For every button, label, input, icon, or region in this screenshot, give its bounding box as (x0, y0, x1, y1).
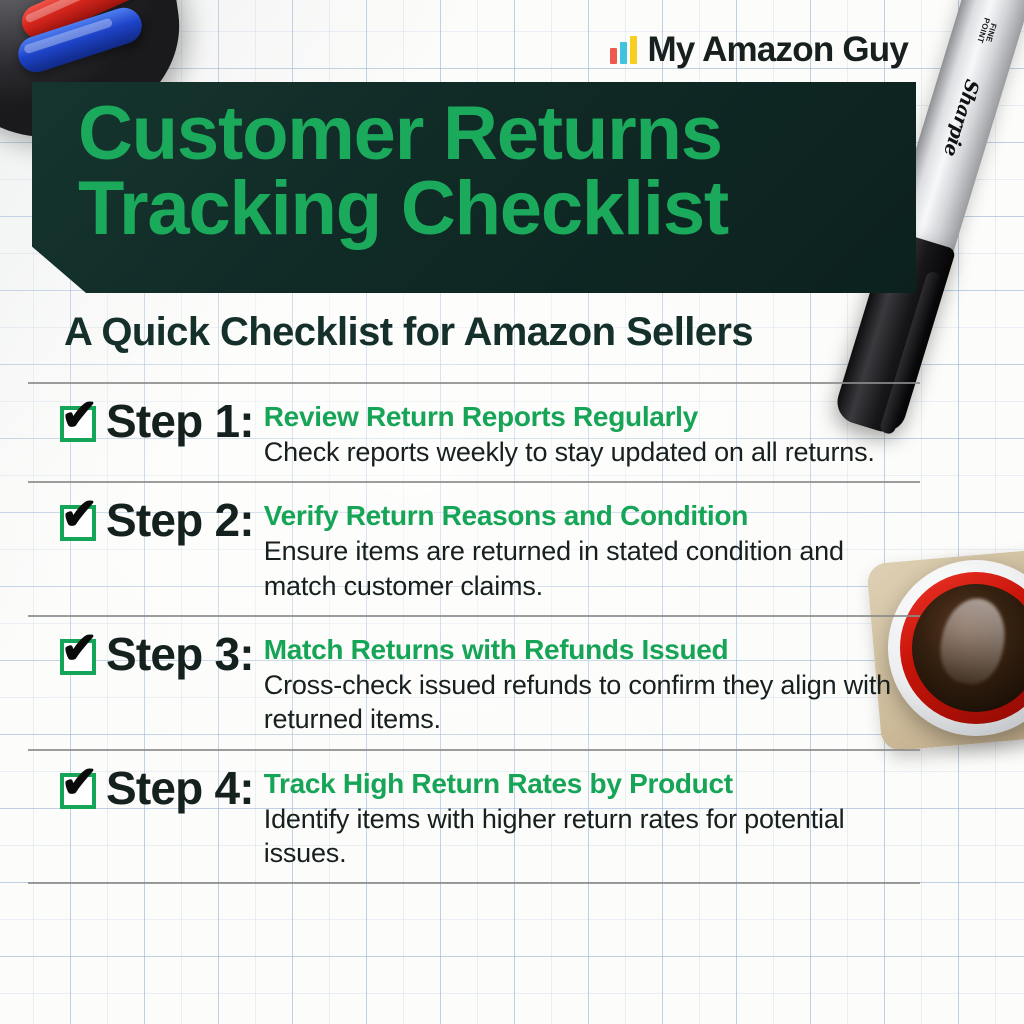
checklist-item-3[interactable]: ✔ Step 3: Match Returns with Refunds Iss… (28, 617, 920, 749)
step-label-1: Step 1: (106, 398, 264, 446)
infographic-page: FINEPOINT Sharpie My Amazon Guy Customer… (0, 0, 1024, 1024)
page-title: Customer Returns Tracking Checklist (78, 96, 908, 246)
step-body-1: Review Return Reports Regularly Check re… (264, 398, 920, 469)
checkbox-step-2[interactable]: ✔ (60, 505, 96, 541)
step-heading-2: Verify Return Reasons and Condition (264, 499, 920, 532)
logo-bar-2 (620, 42, 627, 64)
bar-chart-icon (610, 36, 637, 64)
step-body-2: Verify Return Reasons and Condition Ensu… (264, 497, 920, 603)
checkbox-step-4[interactable]: ✔ (60, 773, 96, 809)
checklist-item-1[interactable]: ✔ Step 1: Review Return Reports Regularl… (28, 384, 920, 481)
step-label-2: Step 2: (106, 497, 264, 545)
step-label-4: Step 4: (106, 765, 264, 813)
check-icon: ✔ (61, 627, 98, 671)
page-title-line-1: Customer Returns (78, 96, 908, 171)
step-description-4: Identify items with higher return rates … (264, 802, 920, 871)
brand-name: My Amazon Guy (647, 30, 908, 70)
divider-bottom (28, 882, 920, 884)
step-description-1: Check reports weekly to stay updated on … (264, 435, 920, 469)
page-subtitle: A Quick Checklist for Amazon Sellers (64, 310, 753, 355)
check-icon: ✔ (61, 761, 98, 805)
checklist-item-2[interactable]: ✔ Step 2: Verify Return Reasons and Cond… (28, 483, 920, 615)
checklist: ✔ Step 1: Review Return Reports Regularl… (28, 382, 920, 884)
step-heading-3: Match Returns with Refunds Issued (264, 633, 920, 666)
checklist-item-4[interactable]: ✔ Step 4: Track High Return Rates by Pro… (28, 751, 920, 883)
step-description-2: Ensure items are returned in stated cond… (264, 534, 920, 603)
check-icon: ✔ (61, 394, 98, 438)
check-icon: ✔ (61, 493, 98, 537)
divider-1 (28, 481, 920, 483)
step-body-3: Match Returns with Refunds Issued Cross-… (264, 631, 920, 737)
checkbox-step-3[interactable]: ✔ (60, 639, 96, 675)
page-title-line-2: Tracking Checklist (78, 171, 908, 246)
logo-bar-3 (630, 36, 637, 64)
divider-2 (28, 615, 920, 617)
step-body-4: Track High Return Rates by Product Ident… (264, 765, 920, 871)
divider-top (28, 382, 920, 384)
step-heading-1: Review Return Reports Regularly (264, 400, 920, 433)
step-label-3: Step 3: (106, 631, 264, 679)
brand-logo[interactable]: My Amazon Guy (610, 30, 908, 70)
logo-bar-1 (610, 48, 617, 64)
checkbox-step-1[interactable]: ✔ (60, 406, 96, 442)
step-heading-4: Track High Return Rates by Product (264, 767, 920, 800)
step-description-3: Cross-check issued refunds to confirm th… (264, 668, 920, 737)
divider-3 (28, 749, 920, 751)
